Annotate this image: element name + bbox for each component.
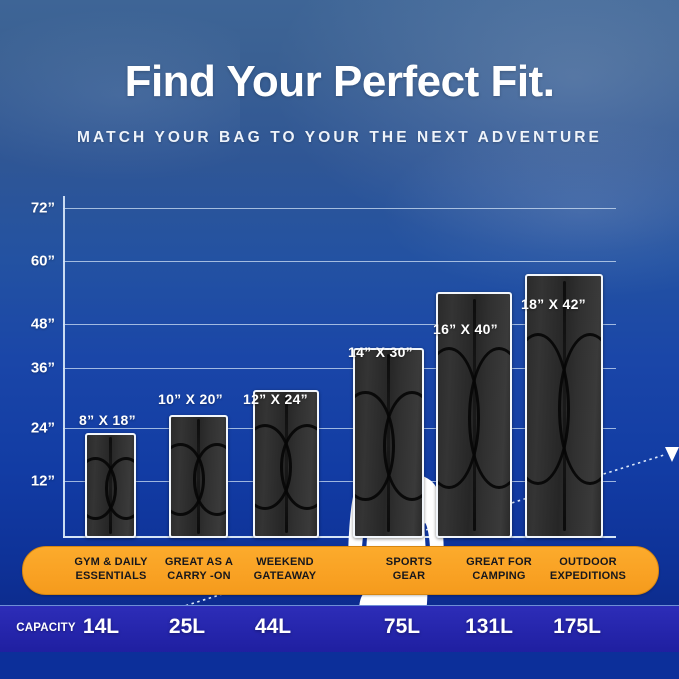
y-tick-24: 24” — [0, 420, 55, 437]
page-subtitle: MATCH YOUR BAG TO YOUR THE NEXT ADVENTUR… — [0, 129, 679, 147]
y-tick-48: 48” — [0, 316, 55, 333]
use-case-strip: GYM & DAILY ESSENTIALS GREAT AS A CARRY … — [22, 546, 659, 595]
footer-fill — [0, 652, 679, 679]
page-title: Find Your Perfect Fit. — [0, 60, 679, 104]
bag-3[interactable] — [353, 348, 424, 538]
y-tick-60: 60” — [0, 253, 55, 270]
bag-label-2: 12” X 24” — [243, 391, 308, 407]
capacity-strip: CAPACITY 14L 25L 44L 75L 131L 175L — [0, 605, 679, 654]
bag-label-0: 8” X 18” — [79, 412, 136, 428]
bag-label-4: 16” X 40” — [433, 321, 498, 337]
gridline-60 — [63, 261, 616, 262]
bag-0[interactable] — [85, 433, 136, 538]
infographic-root: Find Your Perfect Fit. MATCH YOUR BAG TO… — [0, 0, 679, 679]
bag-label-3: 14” X 30” — [348, 344, 413, 360]
bag-1[interactable] — [169, 415, 228, 538]
y-axis-labels: 72” 60” 48” 36” 24” 12” — [0, 196, 55, 538]
capacity-value-1: 25L — [148, 615, 226, 639]
bag-body-1 — [169, 415, 228, 538]
bag-label-1: 10” X 20” — [158, 391, 223, 407]
use-case-2[interactable]: WEEKEND GATEAWAY — [229, 556, 341, 583]
bag-body-3 — [353, 348, 424, 538]
bag-5[interactable] — [525, 274, 603, 538]
capacity-value-2: 44L — [234, 615, 312, 639]
capacity-value-5: 175L — [534, 615, 620, 639]
bag-label-5: 18” X 42” — [521, 296, 586, 312]
y-tick-12: 12” — [0, 473, 55, 490]
y-tick-72: 72” — [0, 200, 55, 217]
gridline-72 — [63, 208, 616, 209]
bar-chart: 8” X 18” 10” X 20” 12” X 24” 14” — [63, 196, 616, 538]
bag-2[interactable] — [253, 390, 319, 538]
y-axis-line — [63, 196, 65, 538]
capacity-value-0: 14L — [62, 615, 140, 639]
bag-body-0 — [85, 433, 136, 538]
use-case-5[interactable]: OUTDOOR EXPEDITIONS — [529, 556, 647, 583]
bag-body-5 — [525, 274, 603, 538]
bag-body-2 — [253, 390, 319, 538]
capacity-value-3: 75L — [363, 615, 441, 639]
capacity-value-4: 131L — [448, 615, 530, 639]
y-tick-36: 36” — [0, 360, 55, 377]
trend-arrow-icon — [665, 447, 679, 462]
